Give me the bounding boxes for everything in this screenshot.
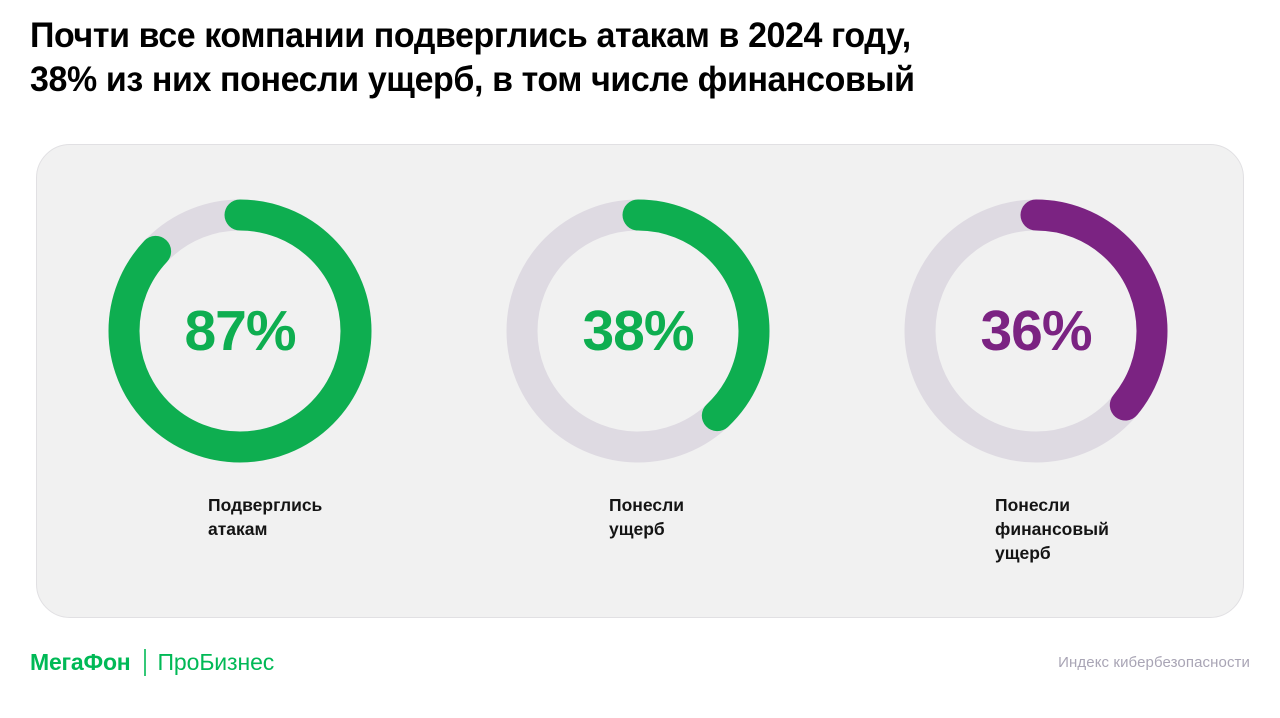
page-title-line-2: 38% из них понесли ущерб, в том числе фи…	[30, 58, 1213, 102]
page-title-line-1: Почти все компании подверглись атакам в …	[30, 14, 1213, 58]
footer: МегаФон ПроБизнес Индекс кибербезопаснос…	[0, 640, 1280, 690]
logo-probusiness-text: ПроБизнес	[158, 651, 275, 674]
logo-divider	[144, 649, 146, 676]
page-title: Почти все компании подверглись атакам в …	[30, 14, 1250, 102]
megafon-probusiness-logo: МегаФон ПроБизнес	[30, 647, 274, 677]
donut-chart-damaged: 38%	[506, 199, 770, 463]
donut-chart-financial-damage: 36%	[904, 199, 1168, 463]
donut-label-financial-damage: Понесли финансовый ущерб	[995, 493, 1210, 565]
donut-stat-financial-damage: 36% Понесли финансовый ущерб	[874, 145, 1214, 617]
donut-chart-row: 87% Подверглись атакам 38% Понесли ущерб	[37, 145, 1243, 617]
donut-value-attacked: 87%	[108, 199, 372, 463]
stats-card: 87% Подверглись атакам 38% Понесли ущерб	[36, 144, 1244, 618]
donut-stat-damaged: 38% Понесли ущерб	[476, 145, 816, 617]
donut-value-financial-damage: 36%	[904, 199, 1168, 463]
donut-value-damaged: 38%	[506, 199, 770, 463]
donut-label-attacked: Подверглись атакам	[208, 493, 423, 541]
logo-megafon-text: МегаФон	[30, 651, 131, 674]
footer-note: Индекс кибербезопасности	[1058, 654, 1250, 671]
donut-chart-attacked: 87%	[108, 199, 372, 463]
donut-stat-attacked: 87% Подверглись атакам	[78, 145, 418, 617]
donut-label-damaged: Понесли ущерб	[609, 493, 824, 541]
